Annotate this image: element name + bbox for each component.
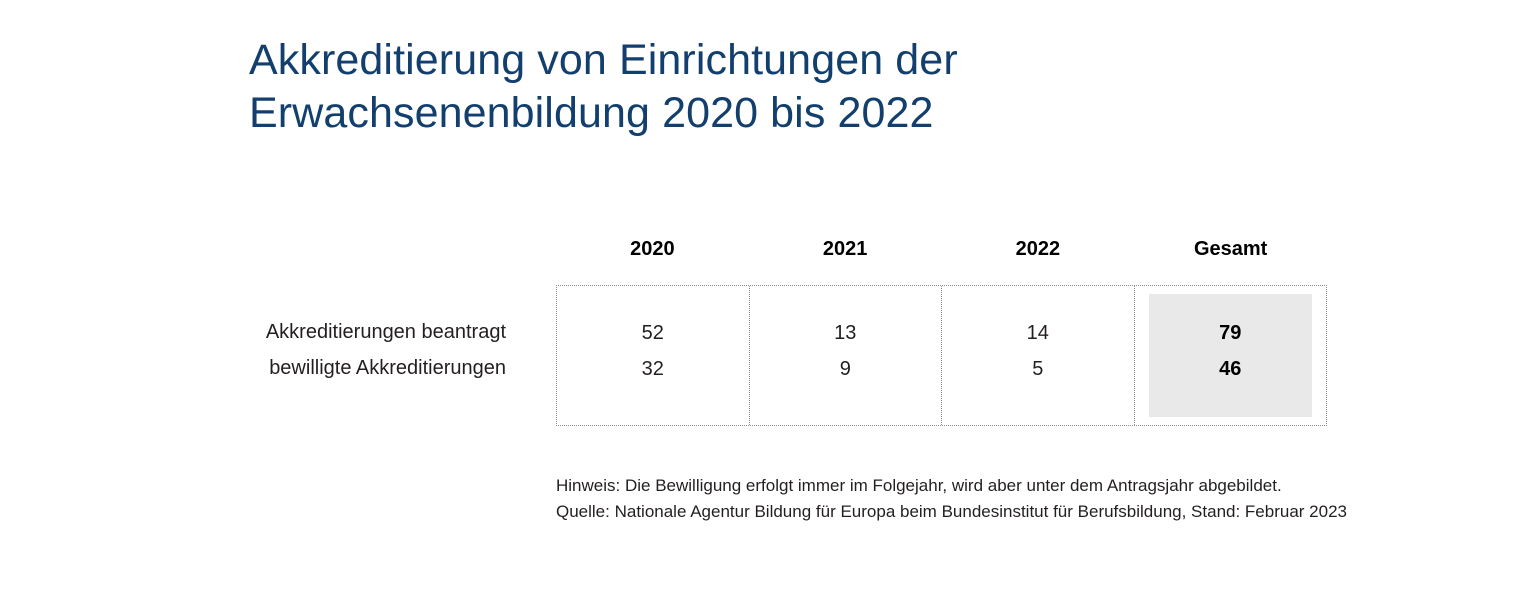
column-fill-2020 <box>571 294 735 417</box>
column-fill-2022 <box>956 294 1120 417</box>
row-label-akkreditierungen-beantragt: Akkreditierungen beantragt <box>266 320 506 344</box>
table-column-headers: 2020 2021 2022 Gesamt <box>556 236 1327 266</box>
cell-2020-bewilligt: 32 <box>557 357 749 381</box>
column-header-gesamt: Gesamt <box>1134 236 1327 266</box>
cell-2022-bewilligt: 5 <box>942 357 1134 381</box>
cell-2021-bewilligt: 9 <box>750 357 942 381</box>
footnote-hinweis: Hinweis: Die Bewilligung erfolgt immer i… <box>556 473 1376 499</box>
column-header-2022: 2022 <box>942 236 1135 266</box>
column-header-2020: 2020 <box>556 236 749 266</box>
column-header-2021: 2021 <box>749 236 942 266</box>
row-label-bewilligte-akkreditierungen: bewilligte Akkreditierungen <box>269 356 506 380</box>
table-column-gesamt: 79 46 <box>1135 286 1327 425</box>
table-row-labels: Akkreditierungen beantragt bewilligte Ak… <box>120 285 506 426</box>
footnote-quelle: Quelle: Nationale Agentur Bildung für Eu… <box>556 499 1376 525</box>
table-column-2022: 14 5 <box>942 286 1135 425</box>
cell-gesamt-bewilligt: 46 <box>1135 357 1327 381</box>
cell-2021-beantragt: 13 <box>750 321 942 345</box>
column-fill-gesamt <box>1149 294 1313 417</box>
table-column-2021: 13 9 <box>750 286 943 425</box>
table-grid: 52 32 13 9 14 5 79 46 <box>556 285 1327 426</box>
cell-2022-beantragt: 14 <box>942 321 1134 345</box>
cell-2020-beantragt: 52 <box>557 321 749 345</box>
table-column-2020: 52 32 <box>557 286 750 425</box>
column-fill-2021 <box>764 294 928 417</box>
footnotes: Hinweis: Die Bewilligung erfolgt immer i… <box>556 473 1376 525</box>
cell-gesamt-beantragt: 79 <box>1135 321 1327 345</box>
